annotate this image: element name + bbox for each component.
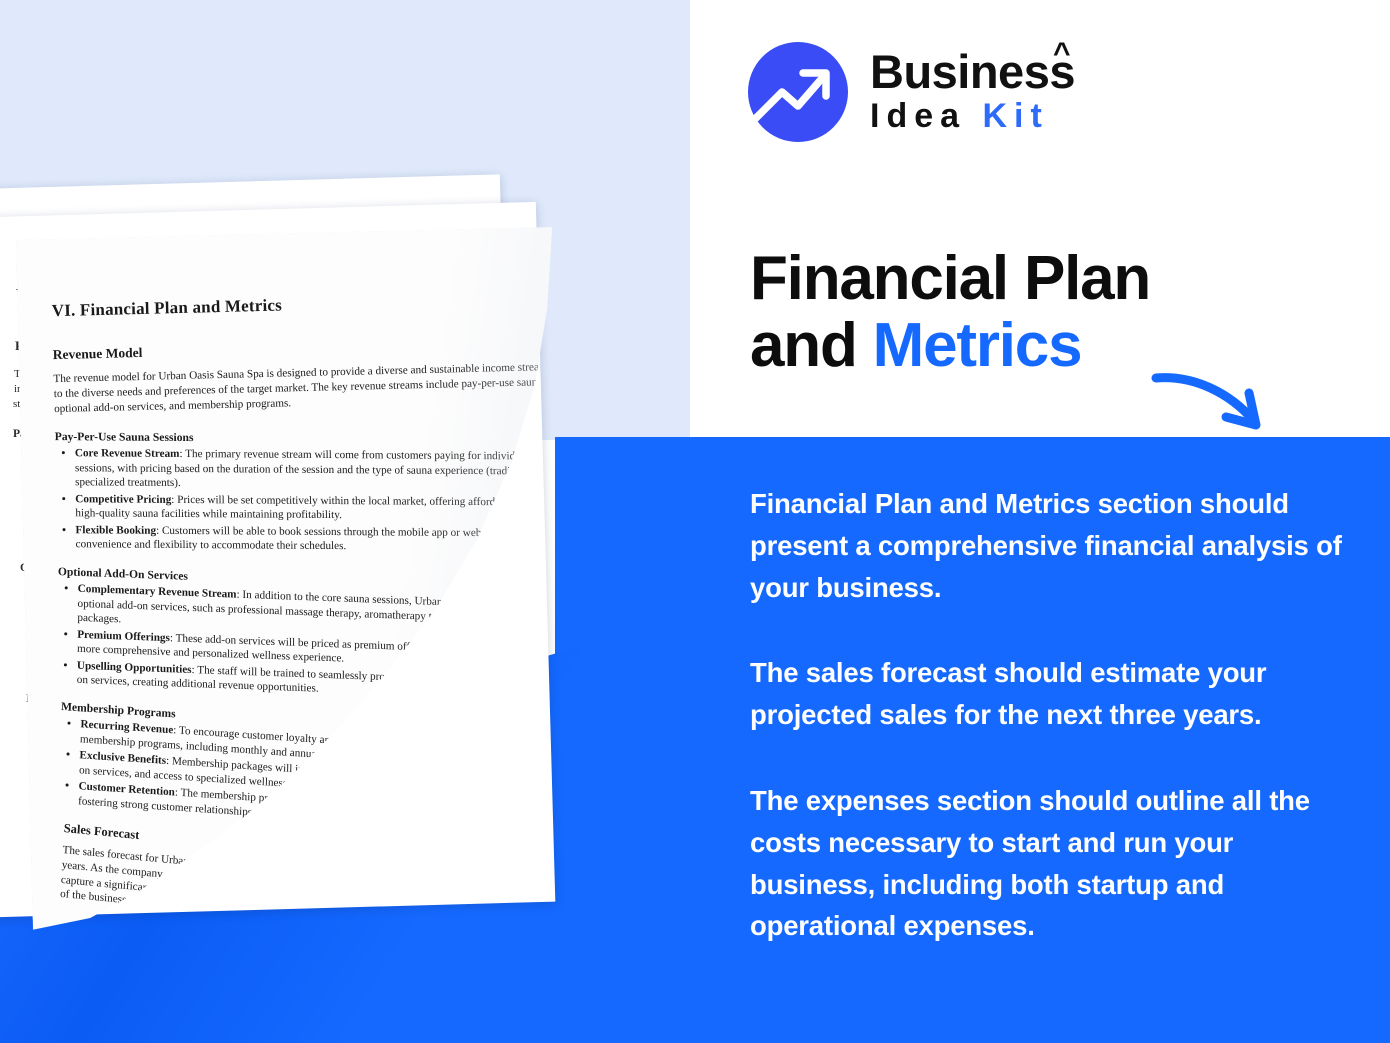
list-item: Competitive Pricing: Prices will be set …: [75, 492, 595, 525]
description-copy: Financial Plan and Metrics section shoul…: [750, 483, 1350, 947]
circumflex-accent-icon: ^: [1053, 39, 1070, 69]
poster-canvas: V Re Th inc stre Pay Op M S VI. Financia…: [0, 0, 1390, 1043]
description-paragraph-3: The expenses section should outline all …: [750, 780, 1350, 947]
description-paragraph-2: The sales forecast should estimate your …: [750, 652, 1350, 736]
description-paragraph-1: Financial Plan and Metrics section shoul…: [750, 483, 1350, 608]
page-title-line2-accent: Metrics: [873, 311, 1082, 380]
page-title-line2-plain: and: [750, 311, 873, 380]
list-item-term: Competitive Pricing: [75, 493, 171, 506]
document-title: VI. Financial Plan and Metrics: [52, 288, 592, 321]
brand-name-idea: Idea: [870, 97, 982, 135]
brand-logo[interactable]: Business ^ Idea Kit: [748, 42, 1075, 142]
list-item-term: Flexible Booking: [75, 524, 156, 537]
page-title-line1: Financial Plan: [750, 244, 1150, 313]
list-item: Flexible Booking: Customers will be able…: [75, 523, 595, 556]
brand-wordmark: Business ^ Idea Kit: [870, 48, 1075, 135]
list-item: Core Revenue Stream: The primary revenue…: [75, 447, 595, 494]
document-group-add-on-list: Complementary Revenue Stream: In additio…: [57, 581, 598, 707]
document-page-front: VI. Financial Plan and Metrics Revenue M…: [16, 222, 753, 939]
brand-name-text: Business: [870, 45, 1075, 98]
trending-up-arrow-icon: [748, 42, 848, 142]
document-group-pay-per-use-list: Core Revenue Stream: The primary revenue…: [55, 446, 596, 556]
document-section-revenue-model-heading: Revenue Model: [53, 334, 593, 363]
document-group-pay-per-use-heading: Pay-Per-Use Sauna Sessions: [55, 430, 595, 447]
brand-name-line1: Business ^: [870, 48, 1075, 96]
document-section-revenue-model-body: The revenue model for Urban Oasis Sauna …: [53, 359, 594, 417]
curved-down-right-arrow-icon: [1148, 355, 1278, 440]
document-body: VI. Financial Plan and Metrics Revenue M…: [52, 288, 607, 916]
list-item-term: Premium Offerings: [77, 629, 170, 644]
brand-name-kit: Kit: [982, 97, 1048, 135]
list-item-term: Core Revenue Stream: [75, 448, 180, 461]
document-group-membership-list: Recurring Revenue: To encourage customer…: [58, 716, 600, 842]
brand-name-line2: Idea Kit: [870, 98, 1075, 135]
